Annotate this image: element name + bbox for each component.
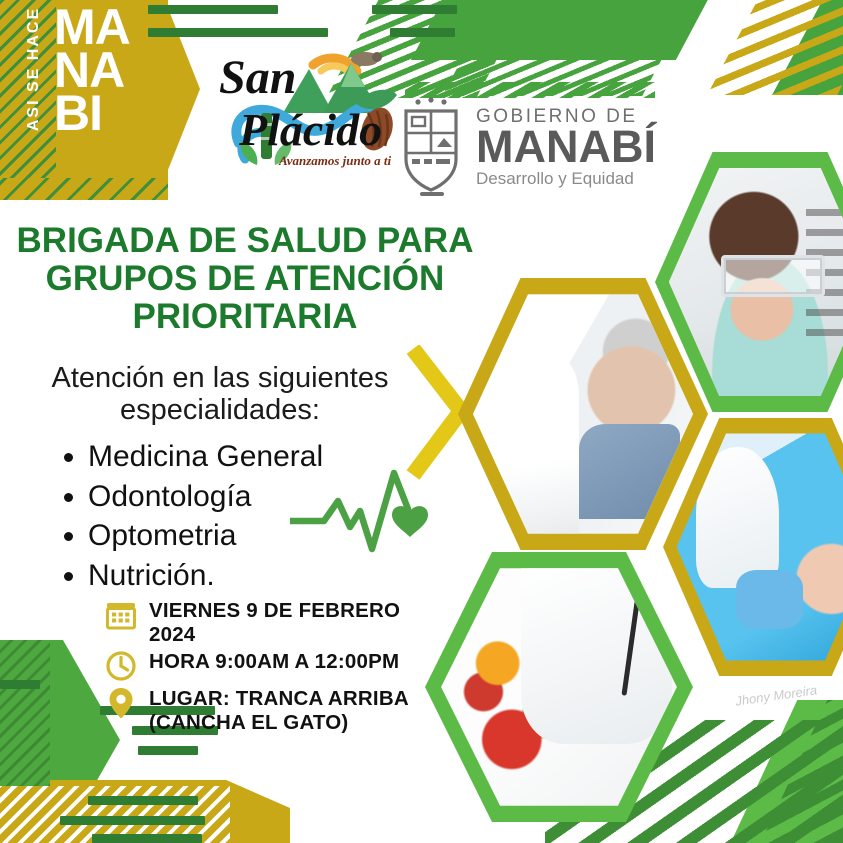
clock-icon (104, 649, 138, 683)
title-line-2: GRUPOS DE ATENCIÓN (0, 260, 490, 298)
detail-date-line-1: VIERNES 9 DE FEBRERO (149, 599, 400, 623)
decor-bar-left-3 (138, 746, 198, 755)
detail-row-date: VIERNES 9 DE FEBRERO 2024 (104, 598, 454, 646)
intro-line-1: Atención en las siguientes (20, 362, 420, 394)
detail-time-text: HORA 9:00AM A 12:00PM (149, 649, 399, 674)
san-placido-word-san: San (219, 51, 296, 104)
intro-line-2: especialidades: (20, 394, 420, 426)
page-title: BRIGADA DE SALUD PARA GRUPOS DE ATENCIÓN… (0, 222, 490, 335)
san-placido-logo: San Plácido Avanzamos junto a ti (205, 25, 405, 180)
nutrition-photo (425, 552, 693, 822)
detail-place-line-1: LUGAR: TRANCA ARRIBA (149, 687, 409, 711)
detail-time-line-1: HORA 9:00AM A 12:00PM (149, 650, 399, 674)
detail-row-place: LUGAR: TRANCA ARRIBA (CANCHA EL GATO) (104, 686, 454, 734)
heartbeat-heart-icon (290, 465, 435, 560)
decor-bar-bottom-3 (92, 834, 202, 843)
decor-bar-left-4 (0, 680, 40, 689)
detail-row-time: HORA 9:00AM A 12:00PM (104, 649, 454, 683)
asi-se-hace-vertical-label: ASI SE HACE (25, 7, 43, 131)
manabi-wordmark: MA NA BI (54, 6, 130, 135)
decor-bar-bottom-1 (88, 796, 198, 805)
san-placido-tagline: Avanzamos junto a ti (278, 153, 391, 168)
decor-bar-top-2 (372, 5, 457, 14)
detail-date-line-2: 2024 (149, 623, 400, 647)
top-right-gold-hatch (707, 0, 843, 95)
title-line-1: BRIGADA DE SALUD PARA (0, 222, 490, 260)
detail-place-text: LUGAR: TRANCA ARRIBA (CANCHA EL GATO) (149, 686, 409, 734)
detail-date-text: VIERNES 9 DE FEBRERO 2024 (149, 598, 400, 646)
gobierno-line-2: MANABÍ (476, 124, 656, 169)
calendar-icon (104, 598, 138, 632)
title-line-3: PRIORITARIA (0, 298, 490, 336)
general-medicine-photo (458, 278, 708, 550)
gobierno-line-3: Desarrollo y Equidad (476, 170, 656, 187)
poster-canvas: ASI SE HACE MA NA BI (0, 0, 843, 843)
gobierno-de-manabi-logo: GOBIERNO DE MANABÍ Desarrollo y Equidad (400, 95, 656, 199)
intro-text: Atención en las siguientes especialidade… (20, 362, 420, 427)
map-pin-icon (104, 686, 138, 720)
decor-bar-bottom-2 (60, 816, 205, 825)
event-details: VIERNES 9 DE FEBRERO 2024 HORA 9:00AM A … (104, 598, 454, 737)
decor-bar-top-1 (148, 5, 278, 14)
manabi-shield-icon (400, 95, 466, 199)
detail-place-line-2: (CANCHA EL GATO) (149, 711, 409, 735)
manabi-line-3: BI (54, 92, 130, 135)
san-placido-word-placido: Plácido (238, 104, 382, 155)
list-item: Nutrición. (88, 556, 442, 596)
